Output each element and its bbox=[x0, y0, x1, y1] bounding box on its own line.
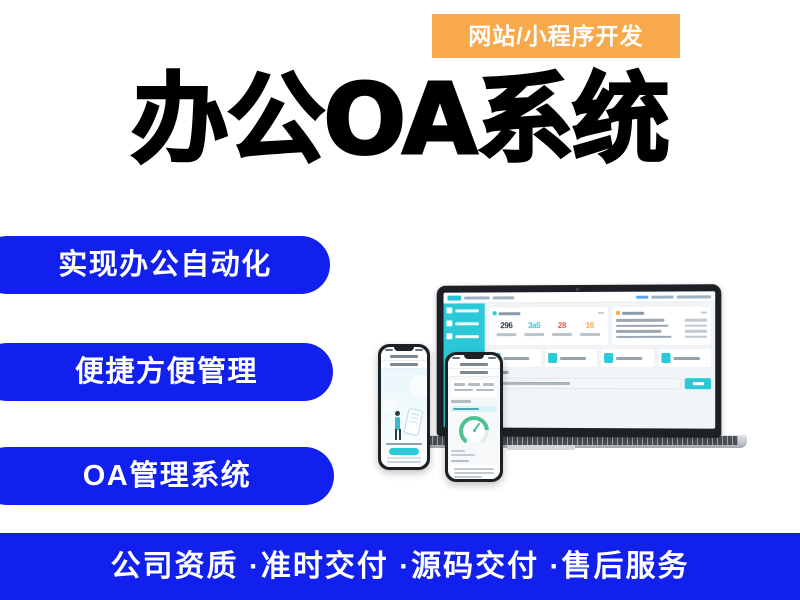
bell-icon bbox=[616, 311, 620, 315]
decor-bubble bbox=[384, 399, 397, 412]
primary-action-button[interactable] bbox=[389, 448, 419, 455]
stat-item: 3a5 bbox=[524, 322, 544, 336]
inbox-icon bbox=[604, 353, 613, 363]
sidebar-item-3[interactable] bbox=[446, 333, 481, 339]
shortcut-card-3-label bbox=[616, 356, 642, 359]
notice-row[interactable] bbox=[616, 319, 707, 322]
user-avatar-icon[interactable] bbox=[636, 295, 648, 298]
notice-row[interactable] bbox=[616, 335, 707, 338]
illustration-caption bbox=[386, 443, 422, 446]
notice-text bbox=[616, 330, 661, 333]
feature-pill-2-label: 便捷方便管理 bbox=[53, 358, 258, 387]
phone-left-navbar bbox=[381, 353, 427, 361]
more-icon[interactable] bbox=[701, 312, 707, 314]
page-title: 办公OA系统 bbox=[0, 68, 800, 173]
search-section bbox=[489, 371, 711, 389]
shortcut-card-4-label bbox=[673, 356, 699, 359]
device-mockup-group: 296 3a5 28 bbox=[360, 280, 780, 510]
highlight-band bbox=[451, 406, 497, 412]
dashboard-row-stats: 296 3a5 28 bbox=[489, 306, 711, 345]
decor-bubble bbox=[410, 375, 427, 397]
person-head bbox=[395, 411, 400, 416]
section-title bbox=[451, 400, 471, 403]
stat-value: 296 bbox=[497, 322, 517, 330]
shortcut-card-1-label bbox=[504, 357, 530, 360]
info-field bbox=[454, 383, 465, 386]
phone-mockup-right bbox=[445, 352, 503, 482]
stat-value: 16 bbox=[580, 322, 600, 330]
notice-date bbox=[685, 324, 707, 327]
stats-card-title bbox=[499, 312, 521, 315]
sidebar-item-2[interactable] bbox=[446, 320, 481, 326]
footer-note bbox=[387, 461, 421, 463]
phone-left-nav-title bbox=[390, 355, 418, 358]
shortcut-row bbox=[489, 349, 711, 367]
notes-line bbox=[454, 468, 494, 470]
stat-caption bbox=[497, 333, 517, 336]
shortcut-card-2-label bbox=[560, 356, 586, 359]
notice-row[interactable] bbox=[616, 330, 707, 333]
gauge-subcaption bbox=[451, 454, 475, 456]
phone-left-subnav bbox=[381, 361, 427, 369]
topbar-tab[interactable] bbox=[464, 296, 490, 299]
info-row bbox=[454, 383, 494, 386]
grid-icon bbox=[446, 333, 452, 339]
footer-bar-label: 公司资质 ·准时交付 ·源码交付 ·售后服务 bbox=[111, 552, 690, 582]
topbar-user-name bbox=[651, 295, 673, 298]
shortcut-card-3[interactable] bbox=[601, 349, 654, 367]
stat-caption bbox=[552, 333, 572, 336]
status-signal-icon bbox=[415, 349, 423, 351]
phone-right-screen bbox=[448, 355, 500, 479]
stat-value: 28 bbox=[552, 322, 572, 330]
search-button-label bbox=[692, 382, 703, 385]
search-button[interactable] bbox=[685, 378, 711, 389]
phone-right-subnav-title bbox=[460, 371, 488, 374]
app-logo bbox=[447, 295, 461, 300]
notes-line bbox=[454, 472, 494, 474]
score-gauge bbox=[459, 416, 489, 446]
notice-date bbox=[685, 330, 707, 333]
stats-card: 296 3a5 28 bbox=[489, 307, 608, 345]
search-input[interactable] bbox=[489, 378, 681, 389]
dashboard-content: 296 3a5 28 bbox=[485, 302, 715, 428]
footer-bar: 公司资质 ·准时交付 ·源码交付 ·售后服务 bbox=[0, 533, 800, 600]
info-field bbox=[483, 383, 494, 386]
highlight-band-label bbox=[453, 408, 479, 410]
notice-card bbox=[612, 306, 711, 344]
edit-doc-icon bbox=[661, 353, 670, 363]
stat-item: 296 bbox=[497, 322, 517, 335]
feature-pill-1-label: 实现办公自动化 bbox=[36, 251, 272, 280]
notice-row[interactable] bbox=[616, 324, 707, 327]
phone-right-navbar bbox=[448, 361, 500, 369]
sidebar-item-1[interactable] bbox=[446, 307, 481, 313]
phone-left-screen bbox=[381, 347, 427, 467]
phone-left-subnav-title bbox=[390, 363, 418, 366]
person-leg bbox=[395, 429, 397, 440]
phone-notch bbox=[464, 355, 484, 359]
gauge-center-dot bbox=[473, 429, 476, 432]
phone-notch bbox=[394, 347, 414, 351]
poster-canvas: 网站/小程序开发 办公OA系统 实现办公自动化 便捷方便管理 OA管理系统 bbox=[0, 0, 800, 600]
check-doc-icon bbox=[548, 353, 557, 363]
notice-text bbox=[616, 324, 668, 327]
stat-caption bbox=[580, 333, 600, 336]
detail-page bbox=[448, 377, 500, 479]
phone-right-subnav bbox=[448, 369, 500, 377]
info-field bbox=[468, 383, 479, 386]
shortcut-card-2[interactable] bbox=[545, 349, 597, 367]
notes-card bbox=[451, 465, 497, 479]
onboarding-illustration bbox=[381, 369, 427, 467]
notice-card-header bbox=[616, 311, 707, 315]
info-card bbox=[451, 380, 497, 397]
shortcut-card-4[interactable] bbox=[658, 349, 711, 367]
notice-date bbox=[685, 335, 707, 338]
notice-text bbox=[616, 319, 664, 322]
sidebar-item-3-label bbox=[455, 335, 479, 338]
stats-value-row: 296 3a5 28 bbox=[493, 319, 604, 338]
search-input-value bbox=[493, 382, 570, 385]
document-icon bbox=[446, 308, 452, 314]
person-leg bbox=[399, 429, 401, 440]
sidebar-item-1-label bbox=[455, 309, 479, 312]
topbar-menu-item[interactable] bbox=[493, 296, 515, 299]
trophy-icon bbox=[446, 320, 452, 326]
stat-item: 16 bbox=[580, 322, 600, 336]
status-signal-icon bbox=[488, 357, 496, 359]
notice-text bbox=[616, 335, 671, 338]
webcam-icon bbox=[576, 287, 579, 290]
info-row bbox=[454, 389, 494, 392]
stats-card-header bbox=[493, 311, 604, 315]
stat-value: 3a5 bbox=[524, 322, 544, 330]
feature-pill-3-label: OA管理系统 bbox=[61, 462, 252, 491]
stat-caption bbox=[524, 333, 544, 336]
topbar-datetime bbox=[677, 295, 712, 298]
notes-line bbox=[454, 476, 482, 478]
phone-mockup-left bbox=[378, 344, 430, 470]
notice-date bbox=[685, 319, 707, 322]
feature-pill-2: 便捷方便管理 bbox=[0, 343, 333, 401]
stat-item: 28 bbox=[552, 322, 572, 336]
gauge-caption bbox=[451, 450, 465, 452]
search-row bbox=[489, 378, 711, 389]
phone-illustration-icon bbox=[403, 408, 423, 437]
status-time bbox=[452, 357, 460, 359]
laptop-trackpad bbox=[507, 445, 575, 450]
info-field bbox=[476, 389, 495, 392]
sidebar-item-2-label bbox=[455, 322, 479, 325]
category-badge: 网站/小程序开发 bbox=[432, 14, 680, 58]
stats-icon bbox=[493, 311, 497, 315]
info-field bbox=[454, 389, 473, 392]
notes-title bbox=[451, 460, 469, 463]
feature-pill-3: OA管理系统 bbox=[0, 447, 334, 505]
more-icon[interactable] bbox=[598, 312, 604, 314]
notice-card-title bbox=[622, 311, 644, 314]
status-time bbox=[385, 349, 393, 351]
phone-right-nav-title bbox=[460, 363, 488, 366]
feature-pill-1: 实现办公自动化 bbox=[0, 236, 330, 294]
category-badge-label: 网站/小程序开发 bbox=[468, 25, 643, 48]
topbar-right-group bbox=[636, 295, 711, 298]
